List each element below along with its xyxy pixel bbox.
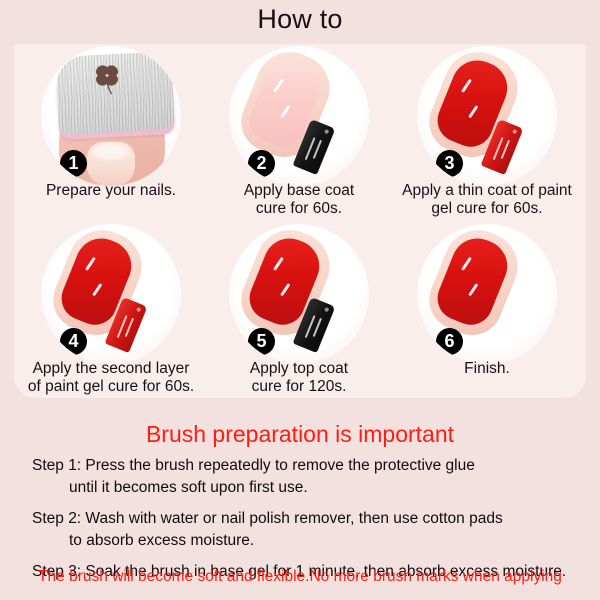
step-6: 6 Finish.	[392, 224, 582, 364]
step-number-badge: 5	[248, 328, 275, 355]
how-to-infographic: How to	[0, 0, 600, 600]
gloss-highlight	[280, 283, 290, 296]
gloss-highlight	[273, 257, 284, 271]
brush-dot	[324, 129, 329, 134]
gloss-highlight	[92, 283, 102, 296]
caption-line: gel cure for 60s.	[386, 200, 588, 218]
gloss-highlight	[273, 79, 284, 93]
brush-bristle-slit	[501, 140, 510, 159]
gloss-highlight	[461, 257, 472, 271]
caption-line: cure for 120s.	[198, 378, 400, 396]
step-5-photo: 5	[229, 224, 369, 364]
brush-dot	[136, 307, 141, 312]
gloss-highlight	[468, 105, 478, 118]
step-number-badge: 2	[248, 150, 275, 177]
steps-panel: 1 Prepare your nails.	[14, 44, 586, 398]
gloss-highlight	[85, 257, 96, 271]
caption-line: of paint gel cure for 60s.	[10, 378, 212, 396]
caption-line: cure for 60s.	[198, 200, 400, 218]
step-1-caption: Prepare your nails.	[10, 182, 212, 200]
step-3-photo: 3	[417, 46, 557, 186]
step-5-caption: Apply top coat cure for 120s.	[198, 360, 400, 395]
caption-line: Apply a thin coat of paint	[386, 182, 588, 200]
brush-prep-note: The brush will become soft and flexible.…	[0, 568, 600, 586]
step-1: 1 Prepare your nails.	[16, 46, 206, 186]
prep-step-line: until it becomes soft upon first use.	[32, 477, 572, 499]
prep-step-line: Step 2: Wash with water or nail polish r…	[32, 508, 572, 530]
step-2-caption: Apply base coat cure for 60s.	[198, 182, 400, 217]
step-4-caption: Apply the second layer of paint gel cure…	[10, 360, 212, 395]
page-title: How to	[0, 4, 600, 35]
four-leaf-clover-icon	[93, 62, 121, 96]
step-2-photo: 2	[229, 46, 369, 186]
brush-bristle-slit	[313, 318, 322, 337]
step-4: 4 Apply the second layer of paint gel cu…	[16, 224, 206, 364]
gloss-highlight	[461, 79, 472, 93]
step-number-badge: 6	[436, 328, 463, 355]
prep-step-line: Step 1: Press the brush repeatedly to re…	[32, 455, 572, 477]
brush-prep-step-1: Step 1: Press the brush repeatedly to re…	[32, 455, 572, 499]
step-number-badge: 1	[60, 150, 87, 177]
prep-step-line: to absorb excess moisture.	[32, 530, 572, 552]
step-5: 5 Apply top coat cure for 120s.	[204, 224, 394, 364]
nail-plate	[87, 142, 135, 186]
brush-dot	[324, 307, 329, 312]
gloss-highlight	[280, 105, 290, 118]
step-6-caption: Finish.	[386, 360, 588, 378]
step-number-badge: 3	[436, 150, 463, 177]
step-2: 2 Apply base coat cure for 60s.	[204, 46, 394, 186]
brush-bristle-slit	[125, 318, 134, 337]
brush-bristle-slit	[313, 140, 322, 159]
caption-line: Apply the second layer	[10, 360, 212, 378]
step-number-badge: 4	[60, 328, 87, 355]
caption-line: Apply top coat	[198, 360, 400, 378]
gloss-highlight	[468, 283, 478, 296]
step-3-caption: Apply a thin coat of paint gel cure for …	[386, 182, 588, 217]
steps-grid: 1 Prepare your nails.	[14, 44, 586, 398]
step-1-photo: 1	[41, 46, 181, 186]
brush-dot	[512, 129, 517, 134]
step-3: 3 Apply a thin coat of paint gel cure fo…	[392, 46, 582, 186]
brush-prep-heading: Brush preparation is important	[0, 421, 600, 448]
brush-prep-step-2: Step 2: Wash with water or nail polish r…	[32, 508, 572, 552]
step-4-photo: 4	[41, 224, 181, 364]
caption-line: Apply base coat	[198, 182, 400, 200]
step-6-photo: 6	[417, 224, 557, 364]
